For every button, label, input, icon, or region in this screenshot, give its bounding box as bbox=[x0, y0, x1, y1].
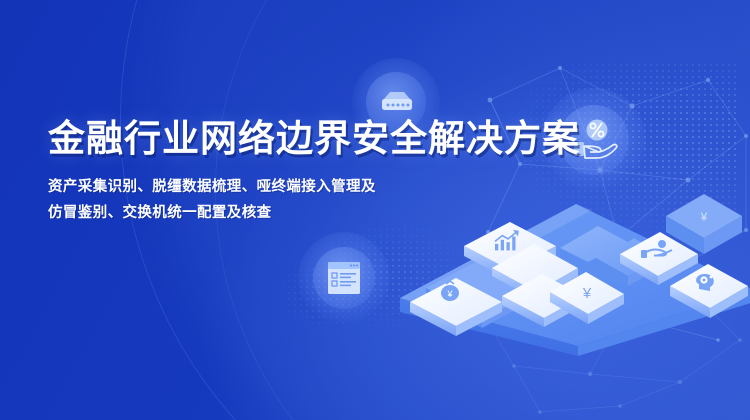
subtitle-line-1: 资产采集识别、脱缰数据梳理、哑终端接入管理及 bbox=[48, 175, 518, 200]
document-list-icon bbox=[320, 255, 368, 301]
page-subtitle: 资产采集识别、脱缰数据梳理、哑终端接入管理及 仿冒鉴别、交换机统一配置及核查 bbox=[48, 175, 518, 226]
bubble-document-list bbox=[298, 232, 390, 324]
yen-icon: ¥ bbox=[582, 285, 592, 302]
financial-security-banner: ¥ ¥ bbox=[0, 0, 750, 420]
page-title: 金融行业网络边界安全解决方案 bbox=[48, 118, 518, 159]
yen-small-icon: ¥ bbox=[700, 210, 708, 224]
subtitle-line-2: 仿冒鉴别、交换机统一配置及核查 bbox=[48, 201, 518, 226]
svg-text:¥: ¥ bbox=[446, 289, 453, 299]
banner-copy: 金融行业网络边界安全解决方案 资产采集识别、脱缰数据梳理、哑终端接入管理及 仿冒… bbox=[48, 118, 518, 226]
